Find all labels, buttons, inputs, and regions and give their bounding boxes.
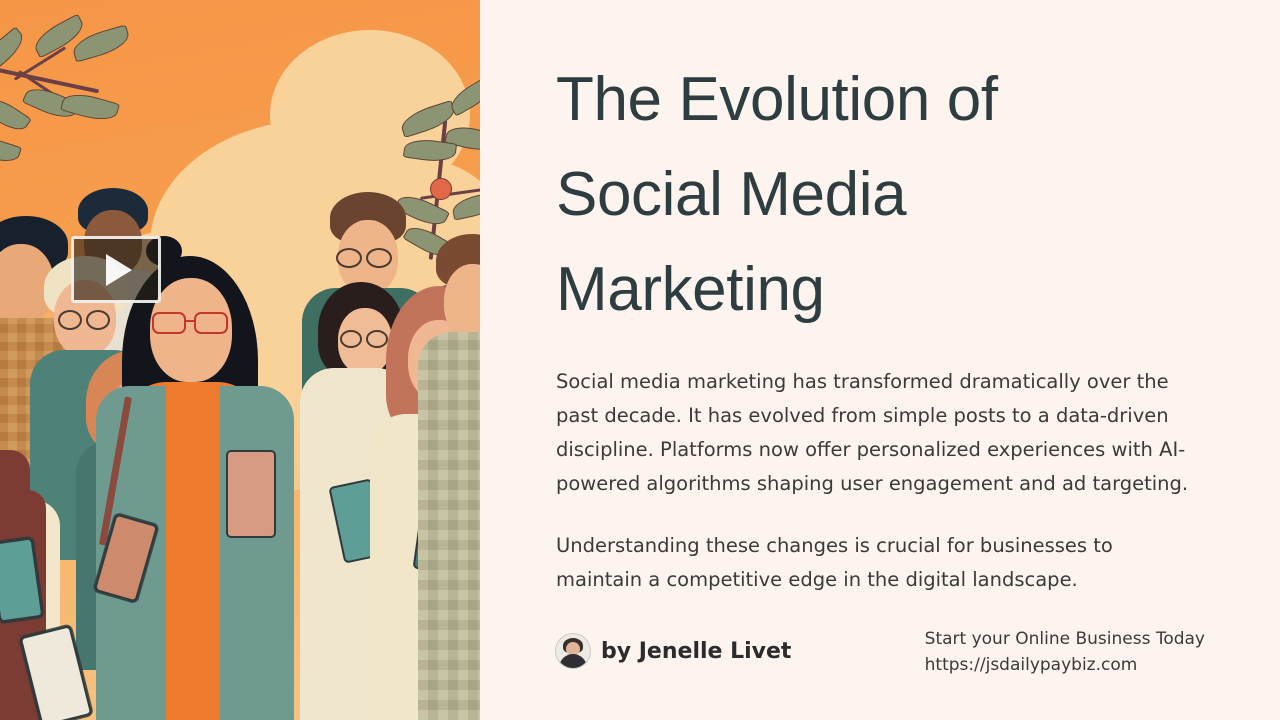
slide-root: The Evolution of Social Media Marketing … <box>0 0 1280 720</box>
berry-icon <box>430 178 452 200</box>
eyeglasses <box>152 312 186 334</box>
page-title: The Evolution of Social Media Marketing <box>556 52 1205 337</box>
eyeglasses <box>194 312 228 334</box>
play-video-button[interactable] <box>71 236 161 303</box>
body-paragraph-1: Social media marketing has transformed d… <box>556 365 1204 501</box>
promo-headline: Start your Online Business Today <box>925 626 1205 652</box>
smartphone <box>226 450 276 538</box>
author-name: by Jenelle Livet <box>601 639 791 664</box>
promo-url[interactable]: https://jsdailypaybiz.com <box>925 652 1205 678</box>
slide-footer: by Jenelle Livet Start your Online Busin… <box>556 626 1205 678</box>
promo-block: Start your Online Business Today https:/… <box>925 626 1205 678</box>
body-paragraph-2: Understanding these changes is crucial f… <box>556 529 1204 597</box>
byline: by Jenelle Livet <box>556 634 791 668</box>
content-panel: The Evolution of Social Media Marketing … <box>480 0 1280 720</box>
play-icon <box>106 254 132 286</box>
illustration-panel <box>0 0 480 720</box>
avatar <box>556 634 590 668</box>
